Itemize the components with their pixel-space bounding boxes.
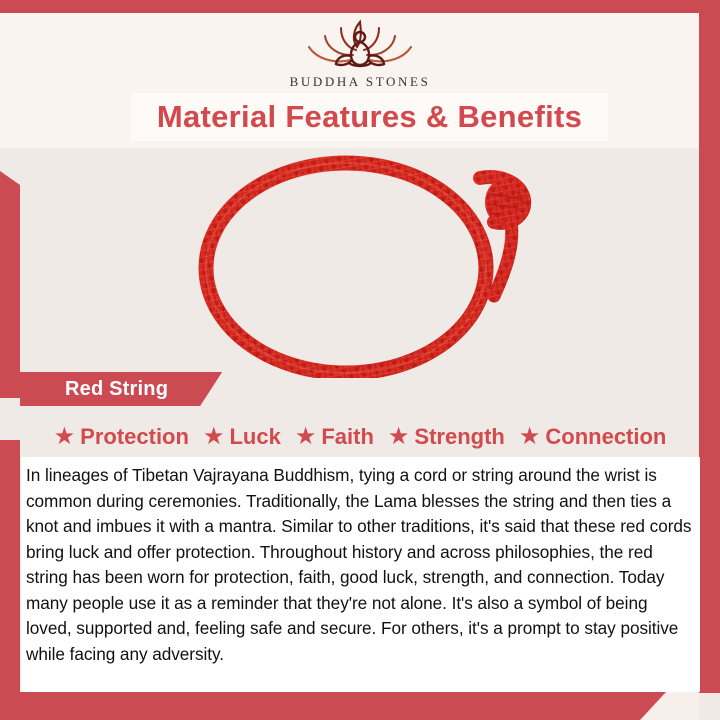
benefit-item: ★ Protection [54, 424, 189, 450]
star-icon: ★ [388, 425, 410, 449]
brand-logo: BUDDHA STONES [0, 16, 720, 90]
star-icon: ★ [519, 425, 541, 449]
benefit-label: Connection [545, 424, 666, 450]
product-banner: Red String [20, 372, 222, 406]
benefit-label: Strength [414, 424, 504, 450]
benefit-item: ★ Strength [388, 424, 505, 450]
page-title: Material Features & Benefits [131, 93, 608, 141]
product-image-red-string-bracelet [150, 150, 590, 378]
frame-bar-top [0, 0, 720, 13]
benefit-item: ★ Faith [295, 424, 374, 450]
benefit-item: ★ Luck [203, 424, 281, 450]
frame-bar-left-lower [0, 440, 20, 702]
star-icon: ★ [203, 425, 225, 449]
product-banner-label: Red String [65, 378, 168, 401]
benefit-label: Protection [80, 424, 189, 450]
brand-name: BUDDHA STONES [0, 74, 720, 90]
benefit-label: Faith [321, 424, 374, 450]
benefits-list: ★ Protection ★ Luck ★ Faith ★ Strength ★… [20, 418, 700, 456]
frame-bar-bottom [0, 692, 640, 720]
star-icon: ★ [54, 425, 76, 449]
star-icon: ★ [295, 425, 317, 449]
benefit-label: Luck [229, 424, 280, 450]
page-title-text: Material Features & Benefits [157, 99, 582, 135]
infographic-card: BUDDHA STONES Material Features & Benefi… [0, 0, 720, 720]
description-text: In lineages of Tibetan Vajrayana Buddhis… [26, 463, 692, 667]
benefit-item: ★ Connection [519, 424, 667, 450]
frame-bar-left-upper [0, 185, 20, 398]
description-panel: In lineages of Tibetan Vajrayana Buddhis… [21, 457, 700, 692]
lotus-meditation-icon [0, 16, 720, 72]
frame-bar-right [699, 13, 720, 693]
